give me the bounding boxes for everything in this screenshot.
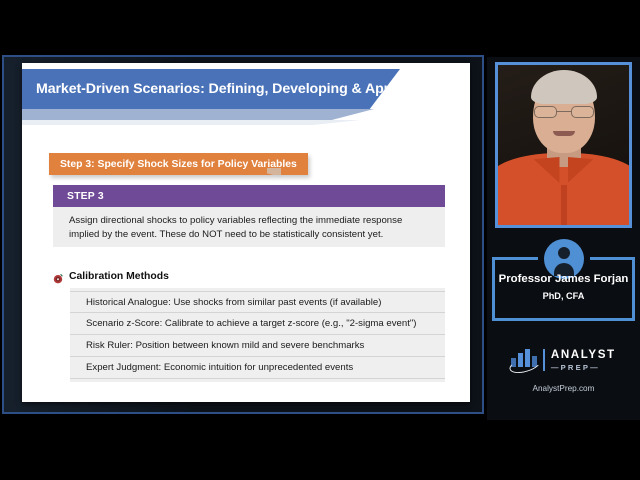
list-item-label: Scenario z-Score: Calibrate to achieve a… (86, 318, 416, 329)
list-item: Risk Ruler: Position between known mild … (70, 335, 445, 357)
target-bullet-icon (53, 271, 64, 282)
calibration-heading-row: Calibration Methods (53, 271, 169, 282)
glasses-lens-left (534, 106, 557, 118)
list-item: Expert Judgment: Economic intuition for … (70, 357, 445, 379)
presenter-credentials: PhD, CFA (487, 291, 640, 301)
brand-logo: ANALYST —PREP— (487, 349, 640, 371)
presenter-shirt-placket (561, 185, 567, 225)
slide-title: Market-Driven Scenarios: Defining, Devel… (22, 81, 460, 97)
glasses-lens-right (571, 106, 594, 118)
presentation-slide: Market-Driven Scenarios: Defining, Devel… (22, 63, 470, 402)
presenter-webcam (495, 62, 632, 228)
video-player-stage: Market-Driven Scenarios: Defining, Devel… (0, 0, 640, 480)
step-body-text: Assign directional shocks to policy vari… (69, 214, 429, 242)
calibration-methods-list: Historical Analogue: Use shocks from sim… (70, 288, 445, 382)
presenter-mouth (553, 131, 575, 136)
presenter-glasses (534, 106, 594, 118)
step-header-bar: STEP 3 (53, 185, 445, 207)
step-tab-label: Step 3: Specify Shock Sizes for Policy V… (60, 159, 297, 170)
step-body-box: Assign directional shocks to policy vari… (53, 207, 445, 247)
list-item-label: Expert Judgment: Economic intuition for … (86, 362, 353, 373)
presenter-rail: Professor James Forjan PhD, CFA ANALYST … (487, 57, 640, 420)
slide-bezel: Market-Driven Scenarios: Defining, Devel… (4, 57, 482, 412)
calibration-heading: Calibration Methods (69, 271, 169, 282)
list-item: Scenario z-Score: Calibrate to achieve a… (70, 313, 445, 335)
slide-title-underband-light (22, 120, 360, 125)
brand-subname: —PREP— (551, 364, 616, 372)
presenter-name: Professor James Forjan (487, 273, 640, 285)
avatar-head (558, 247, 570, 259)
list-item: Historical Analogue: Use shocks from sim… (70, 291, 445, 313)
glasses-bridge (557, 111, 571, 112)
list-item-label: Historical Analogue: Use shocks from sim… (86, 297, 381, 308)
logo-divider (543, 349, 545, 371)
brand-wordmark: ANALYST —PREP— (551, 349, 616, 371)
step-header-label: STEP 3 (53, 191, 104, 202)
brand-name: ANALYST (551, 349, 616, 361)
brand-url: AnalystPrep.com (487, 384, 640, 393)
slide-title-banner: Market-Driven Scenarios: Defining, Devel… (22, 69, 400, 109)
list-item-label: Risk Ruler: Position between known mild … (86, 340, 364, 351)
step-tab-fold (267, 168, 281, 177)
bar-chart-logo-icon (511, 349, 537, 371)
slide-title-underband (22, 109, 374, 120)
